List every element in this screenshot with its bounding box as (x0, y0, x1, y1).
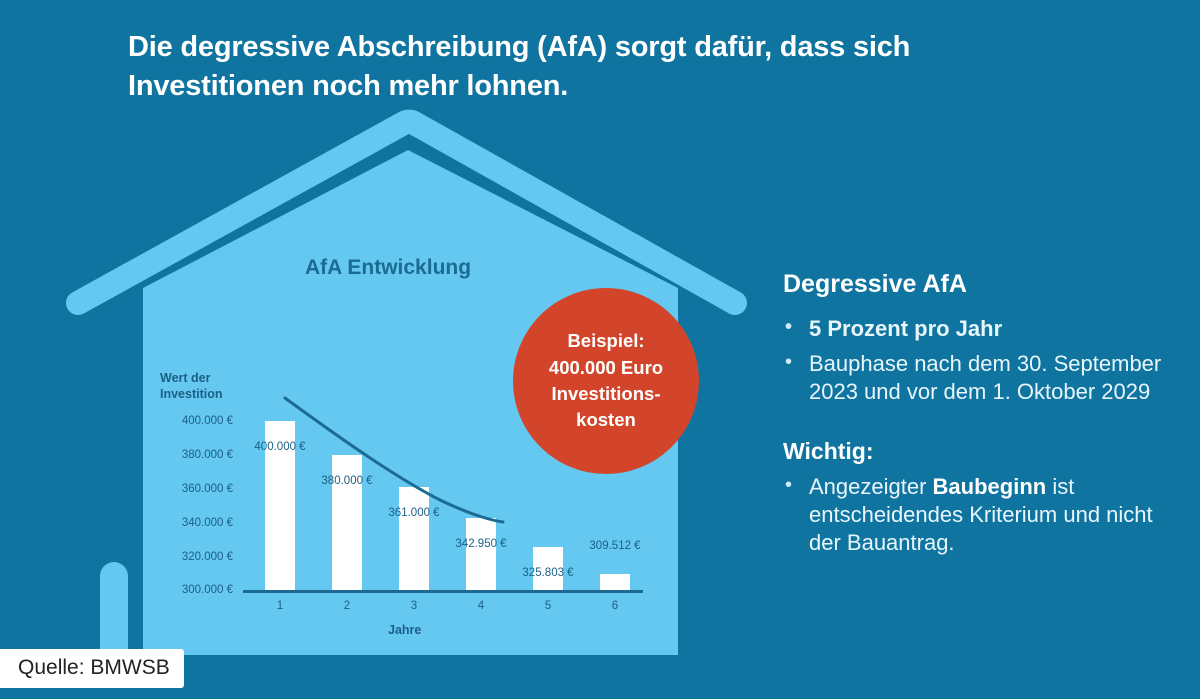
y-tick-label: 340.000 € (153, 517, 233, 529)
x-tick-label: 2 (344, 600, 350, 612)
house-chimney-shape (100, 562, 128, 655)
x-tick-label: 6 (612, 600, 618, 612)
panel-bullet-list: 5 Prozent pro Jahr Bauphase nach dem 30.… (783, 315, 1178, 406)
example-callout-circle: Beispiel: 400.000 Euro Investitions- kos… (513, 288, 699, 474)
y-tick-label: 400.000 € (153, 415, 233, 427)
list-item: Angezeigter Baubeginn ist entscheidendes… (783, 473, 1178, 557)
wichtig-heading: Wichtig: (783, 438, 1178, 465)
list-item: 5 Prozent pro Jahr (783, 315, 1178, 343)
callout-line-3: Investitions- (549, 381, 663, 407)
y-tick-label: 360.000 € (153, 483, 233, 495)
x-tick-label: 4 (478, 600, 484, 612)
infographic-canvas: Die degressive Abschreibung (AfA) sorgt … (0, 0, 1200, 699)
chart-title: AfA Entwicklung (305, 256, 471, 280)
y-tick-label: 300.000 € (153, 584, 233, 596)
y-tick-label: 320.000 € (153, 551, 233, 563)
x-tick-label: 1 (277, 600, 283, 612)
source-label: Quelle: BMWSB (0, 649, 184, 688)
x-tick-label: 3 (411, 600, 417, 612)
panel-heading: Degressive AfA (783, 270, 1178, 299)
wichtig-bullet-list: Angezeigter Baubeginn ist entscheidendes… (783, 473, 1178, 557)
callout-line-1: Beispiel: (549, 328, 663, 354)
x-tick-label: 5 (545, 600, 551, 612)
wichtig-text-pre: Angezeigter (809, 474, 933, 499)
callout-line-2: 400.000 Euro (549, 355, 663, 381)
wichtig-text-bold: Baubeginn (933, 474, 1047, 499)
info-panel: Degressive AfA 5 Prozent pro Jahr Baupha… (783, 270, 1178, 564)
y-axis-ticks: 400.000 € 380.000 € 360.000 € 340.000 € … (151, 288, 233, 655)
list-item: Bauphase nach dem 30. September 2023 und… (783, 350, 1178, 406)
y-tick-label: 380.000 € (153, 449, 233, 461)
x-axis-title: Jahre (388, 623, 421, 639)
callout-line-4: kosten (549, 407, 663, 433)
